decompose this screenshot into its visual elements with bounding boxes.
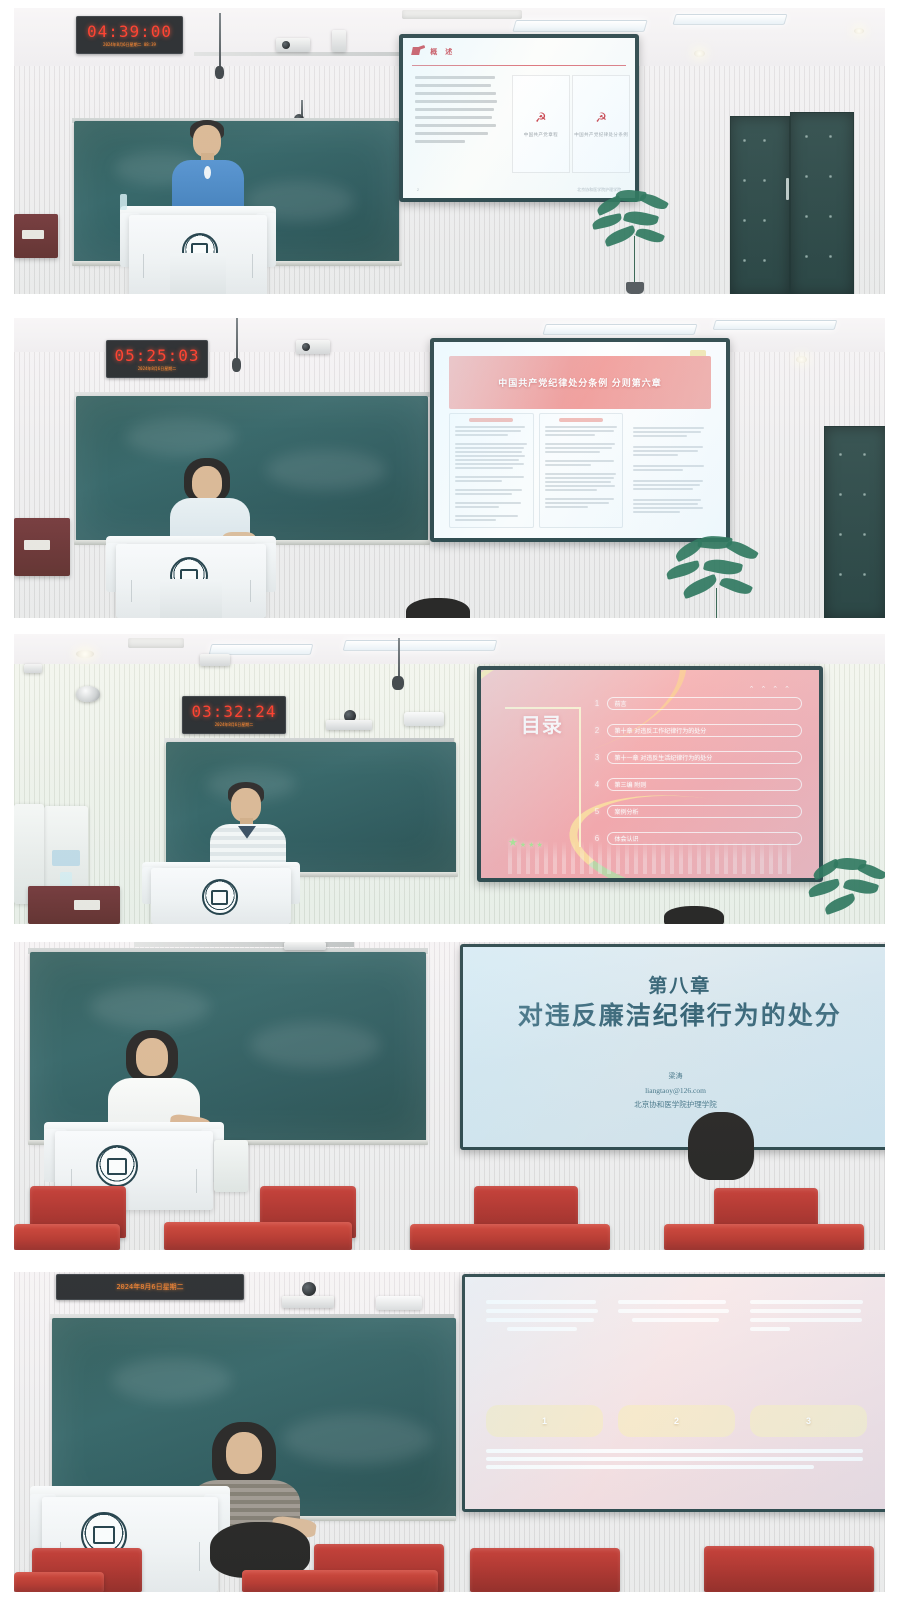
classroom-door-left[interactable] [730,116,790,294]
auditorium-seat [164,1222,352,1250]
ceiling-projector [376,1296,422,1310]
water-bottle [120,194,127,210]
slide-surface: 中国共产党纪律处分条例 分则第六章 [434,342,726,538]
audience-head [664,906,724,924]
party-emblem-icon: ☭ [595,110,607,126]
toc-number: 2 [593,726,602,735]
slide-step-badges: 1 2 3 [486,1405,867,1437]
toc-number: 5 [593,807,602,816]
slide-affiliation: 北京协和医学院护理学院 [463,1098,885,1112]
slide-card-2: ☭ 中国共产党纪律处分条例 [572,75,630,173]
ceiling-camera-lens-icon [302,1282,316,1296]
dispenser-panel [52,850,80,866]
red-cabinet [28,886,120,924]
video-conference-camera [282,1296,334,1308]
lectern-base [160,579,221,618]
toc-label: 第三编 附则 [607,778,803,791]
clock-date: 2024年8月6日星期二 [116,1284,183,1291]
microphone-head [215,66,224,79]
slide-surface: 概 述 ☭ [403,38,635,198]
slide-email: liangtaoy@126.com [463,1084,885,1098]
downlight [854,28,864,34]
slide-page-number: 2 [417,187,419,193]
star-decoration-icon: ★★★★ [508,838,543,849]
clock-date: 2024年8月6日星期二 08:39 [103,43,156,47]
door-handle[interactable] [786,178,789,200]
projection-screen[interactable]: 第八章 对违反廉洁纪律行为的处分 梁涛 liangtaoy@126.com 北京… [460,944,885,1150]
audience-head [406,598,470,618]
toc-item-6[interactable]: 6 体会认识 [593,832,803,845]
video-conference-camera [284,942,326,950]
downlight [694,50,705,57]
led-wall-clock: 05:25:03 2024年8月6日星期二 [106,340,208,378]
auditorium-seat [410,1224,610,1250]
slide-column-2 [618,1300,735,1393]
microphone-head [232,358,241,372]
slide-header-text: 概 述 [430,47,455,57]
toc-item-3[interactable]: 3 第十一章 对违反生活纪律行为的处分 [593,751,803,764]
projection-screen[interactable]: 1 2 3 [462,1274,885,1512]
photo-panel-1[interactable]: 04:39:00 2024年8月6日星期二 08:39 [14,8,885,294]
toc-label: 第十一章 对违反生活纪律行为的处分 [607,751,803,764]
classroom-door[interactable] [824,426,885,618]
slide-title: 第八章 对违反廉洁纪律行为的处分 [497,975,863,1032]
slide-column-1 [449,413,534,529]
party-emblem-icon: ☭ [535,110,547,126]
auditorium-seat [664,1224,864,1250]
lectern-base [170,253,226,294]
potted-plant [664,536,774,618]
toc-label: 案例分析 [607,805,803,818]
slide-card-2-caption: 中国共产党纪律处分条例 [574,132,628,138]
lectern-front-panel [151,868,290,924]
clock-time: 04:39:00 [87,24,172,40]
slide-header: 概 述 [412,46,455,57]
slide-columns [486,1300,867,1393]
slide-column-1 [486,1300,603,1393]
clock-date: 2024年8月6日星期二 [138,367,176,371]
toc-item-5[interactable]: 5 案例分析 [593,805,803,818]
microphone-head [392,676,404,690]
audience-head [688,1112,754,1180]
downlight [76,650,94,658]
ceiling-light [343,640,498,651]
toc-item-2[interactable]: 2 第十章 对违反工作纪律行为的处分 [593,724,803,737]
head [226,1432,262,1474]
slide-card-1-caption: 中国共产党章程 [524,132,558,138]
wall-speaker [332,30,346,52]
photo-panel-4[interactable]: 第八章 对违反廉洁纪律行为的处分 梁涛 liangtaoy@126.com 北京… [14,942,885,1250]
lectern [120,206,276,294]
head [136,1038,168,1076]
slide-column-3 [750,1300,867,1393]
toc-list: 1 前言 2 第十章 对违反工作纪律行为的处分 3 第十一章 对违反生活纪律行为… [593,697,803,845]
toc-number: 4 [593,780,602,789]
classroom-door-right[interactable] [790,112,854,294]
auditorium-seat [14,1572,104,1592]
slide-banner: 中国共产党纪律处分条例 分则第六章 [449,356,712,409]
video-conference-camera [326,720,372,730]
wall-mount-bracket [24,664,42,673]
potted-plant [804,858,885,924]
lectern [106,536,276,618]
slide-banner-title: 中国共产党纪律处分条例 分则第六章 [498,376,662,389]
led-wall-clock: 03:32:24 2024年8月6日星期二 [182,696,286,734]
microphone-boom [236,318,238,362]
auditorium-seat [14,1224,120,1250]
photo-panel-5[interactable]: 2024年8月6日星期二 [14,1272,885,1592]
auditorium-seat [242,1570,438,1592]
podium-side-unit [214,1140,248,1192]
slide-paragraph [415,76,499,148]
clock-time: 03:32:24 [191,704,276,720]
potted-plant [590,190,682,294]
ceiling-projector [404,712,444,726]
led-wall-clock: 04:39:00 2024年8月6日星期二 08:39 [76,16,183,54]
toc-number: 3 [593,753,602,762]
air-vent [128,638,184,648]
slide-subtitle: 梁涛 liangtaoy@126.com 北京协和医学院护理学院 [463,1071,885,1112]
ceiling-light [713,320,838,330]
slide-author: 梁涛 [463,1071,885,1084]
ceiling-light [672,14,787,25]
toc-label: 前言 [607,697,803,710]
slide-column-2 [539,413,624,529]
photo-panel-3[interactable]: 03:32:24 2024年8月6日星期二 ⌃ ⌃ ⌃ ⌃ 目录 [14,634,885,924]
party-emblem-icon [412,46,425,57]
step-badge-3[interactable]: 3 [750,1405,867,1437]
photo-panel-2[interactable]: 05:25:03 2024年8月6日星期二 中国共产党纪律处分条例 分则第六章 [14,318,885,618]
toc-number: 6 [593,834,602,843]
ceiling-mic-wire [301,100,303,116]
step-badge-1[interactable]: 1 [486,1405,603,1437]
slide-column-3 [628,413,711,529]
head [192,466,222,500]
camera-lens-icon [282,41,290,49]
lectern [142,862,300,924]
step-badge-2[interactable]: 2 [618,1405,735,1437]
clock-time: 05:25:03 [114,348,199,364]
toc-label: 第十章 对违反工作纪律行为的处分 [607,724,803,737]
projection-screen[interactable]: ⌃ ⌃ ⌃ ⌃ 目录 ★★★★ 1 前言 2 第十章 对违反工作纪律行为的处分 [477,666,823,882]
slide-footer-paragraph [486,1449,867,1473]
slide-title-line-1: 第八章 [497,975,863,1000]
toc-item-1[interactable]: 1 前言 [593,697,803,710]
toc-number: 1 [593,699,602,708]
wall-cabinet [14,214,58,258]
camera-lens-icon [302,343,310,351]
slide-surface: ⌃ ⌃ ⌃ ⌃ 目录 ★★★★ 1 前言 2 第十章 对违反工作纪律行为的处分 [481,670,819,878]
downlight [796,356,807,363]
microphone-boom [398,638,400,680]
wall-cabinet [14,518,70,576]
toc-item-4[interactable]: 4 第三编 附则 [593,778,803,791]
auditorium-seat [470,1548,620,1592]
toc-label: 体会认识 [607,832,803,845]
ceiling-light [542,324,697,335]
slide-columns [449,413,712,529]
slide-title-line-2: 对违反廉洁纪律行为的处分 [497,1000,863,1033]
university-crest-icon [202,879,238,915]
slide-divider [412,65,625,66]
wall-camera-housing [200,654,230,666]
clock-date: 2024年8月6日星期二 [215,723,253,727]
ceiling-light [512,20,647,32]
head [231,788,261,822]
slide-surface: 第八章 对违反廉洁纪律行为的处分 梁涛 liangtaoy@126.com 北京… [463,947,885,1147]
led-wall-clock: 2024年8月6日星期二 [56,1274,244,1300]
slide-card-1: ☭ 中国共产党章程 [512,75,570,173]
birds-icon: ⌃ ⌃ ⌃ ⌃ [749,685,792,693]
plant-pot [626,282,644,294]
projection-screen[interactable]: 中国共产党纪律处分条例 分则第六章 [430,338,730,542]
slide-heading: 目录 [515,716,569,737]
auditorium-seat [704,1546,874,1592]
projection-screen[interactable]: 概 述 ☭ [399,34,639,202]
air-vent [402,10,522,19]
photo-gallery-page: 04:39:00 2024年8月6日星期二 08:39 [0,0,899,1600]
dome-camera [76,686,100,702]
slide-surface: 1 2 3 [465,1277,885,1509]
blackboard [30,952,426,1142]
microphone-boom [219,13,221,69]
